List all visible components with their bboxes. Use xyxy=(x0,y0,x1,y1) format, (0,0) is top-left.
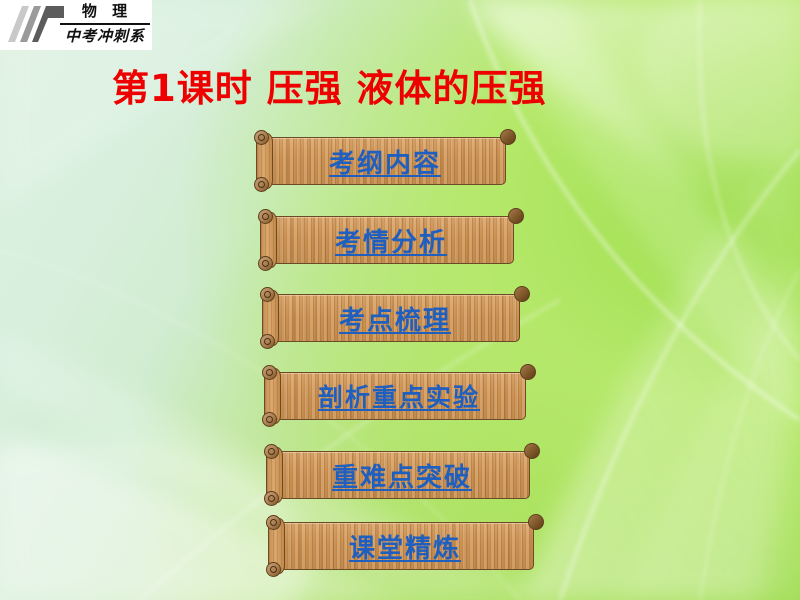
scroll-knob-top-right-icon xyxy=(500,129,516,145)
scroll-knob-top-right-icon xyxy=(514,286,530,302)
scroll-knob-top-right-icon xyxy=(528,514,544,530)
scroll-curl-bottom-left-icon xyxy=(260,334,275,349)
scroll-curl-bottom-left-icon xyxy=(266,562,281,577)
scroll-knob-top-right-icon xyxy=(524,443,540,459)
scroll-item-label: 课堂精炼 xyxy=(284,518,526,574)
slide-canvas: 物 理 中考冲刺系列 第1课时 压强 液体的压强 考纲内容 考情分析 xyxy=(0,0,800,600)
scroll-item-pouxi-zhongdian-shiyan[interactable]: 剖析重点实验 xyxy=(258,368,540,424)
scroll-curl-bottom-left-icon xyxy=(254,177,269,192)
scroll-item-kaoqing-fenxi[interactable]: 考情分析 xyxy=(254,212,528,268)
scroll-knob-top-right-icon xyxy=(520,364,536,380)
page-title: 第1课时 压强 液体的压强 xyxy=(112,66,547,112)
scroll-curl-top-left-icon xyxy=(264,444,279,459)
logo-series: 中考冲刺系列 xyxy=(60,24,150,50)
logo-subject: 物 理 xyxy=(66,0,148,22)
logo-badge: 物 理 中考冲刺系列 xyxy=(0,0,152,50)
scroll-curl-top-left-icon xyxy=(254,130,269,145)
scroll-item-ketang-jinglian[interactable]: 课堂精炼 xyxy=(262,518,548,574)
scroll-item-zhongnandian-tupo[interactable]: 重难点突破 xyxy=(260,447,544,503)
scroll-item-label: 重难点突破 xyxy=(282,447,522,503)
diagonal-slashes-icon xyxy=(2,2,64,46)
scroll-item-label: 剖析重点实验 xyxy=(280,368,518,424)
scroll-item-label: 考点梳理 xyxy=(278,290,512,346)
scroll-curl-top-left-icon xyxy=(266,515,281,530)
scroll-curl-bottom-left-icon xyxy=(264,491,279,506)
scroll-item-kangang-neirong[interactable]: 考纲内容 xyxy=(250,133,520,189)
scroll-curl-top-left-icon xyxy=(262,365,277,380)
scroll-knob-top-right-icon xyxy=(508,208,524,224)
scroll-item-label: 考情分析 xyxy=(276,212,506,268)
scroll-item-label: 考纲内容 xyxy=(272,133,498,189)
scroll-item-kaodian-shuli[interactable]: 考点梳理 xyxy=(256,290,534,346)
scroll-curl-top-left-icon xyxy=(260,287,275,302)
scroll-curl-top-left-icon xyxy=(258,209,273,224)
scroll-curl-bottom-left-icon xyxy=(262,412,277,427)
scroll-curl-bottom-left-icon xyxy=(258,256,273,271)
